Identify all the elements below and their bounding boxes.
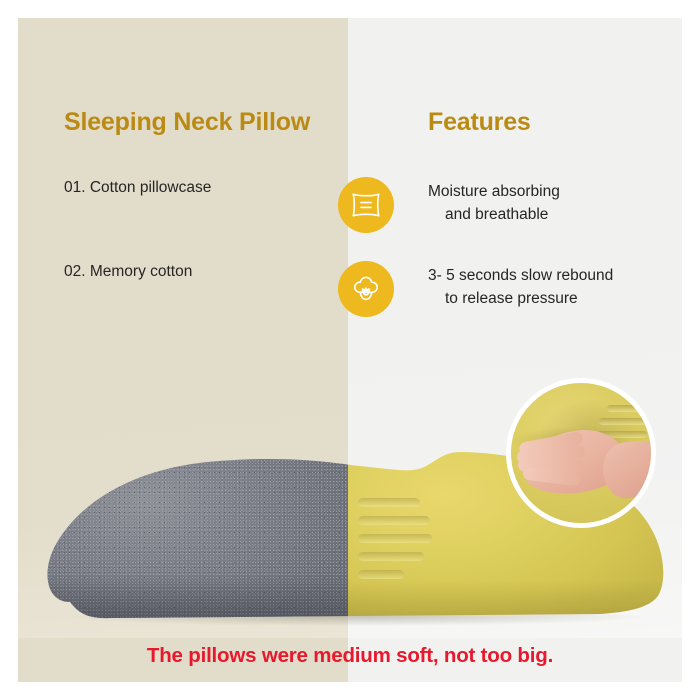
pillow-grey-cover-half (40, 452, 348, 620)
foam-groove-ridges (358, 498, 446, 580)
left-feature-item-1: 01. Cotton pillowcase (64, 179, 211, 197)
pillow-icon-badge (338, 177, 394, 233)
right-feature-item-2: 3- 5 seconds slow rebound to release pre… (428, 264, 613, 310)
cotton-boll-icon (351, 274, 381, 304)
left-panel-title: Sleeping Neck Pillow (64, 108, 310, 137)
cotton-boll-icon-badge (338, 261, 394, 317)
pillow-icon (349, 192, 383, 218)
product-infographic: Sleeping Neck Pillow Features 01. Cotton… (18, 18, 682, 682)
fingers (517, 435, 597, 485)
right-panel-title: Features (428, 108, 531, 137)
right-feature-1-line2: and breathable (428, 203, 560, 226)
right-feature-item-1: Moisture absorbing and breathable (428, 180, 560, 226)
right-feature-1-line1: Moisture absorbing (428, 183, 560, 200)
right-feature-2-line2: to release pressure (428, 287, 613, 310)
right-feature-2-line1: 3- 5 seconds slow rebound (428, 267, 613, 284)
bottom-caption: The pillows were medium soft, not too bi… (18, 644, 682, 668)
hand-illustration (517, 427, 656, 513)
product-photo (18, 348, 682, 638)
left-feature-item-2: 02. Memory cotton (64, 263, 192, 281)
hand-pressing-foam-inset (506, 378, 656, 528)
